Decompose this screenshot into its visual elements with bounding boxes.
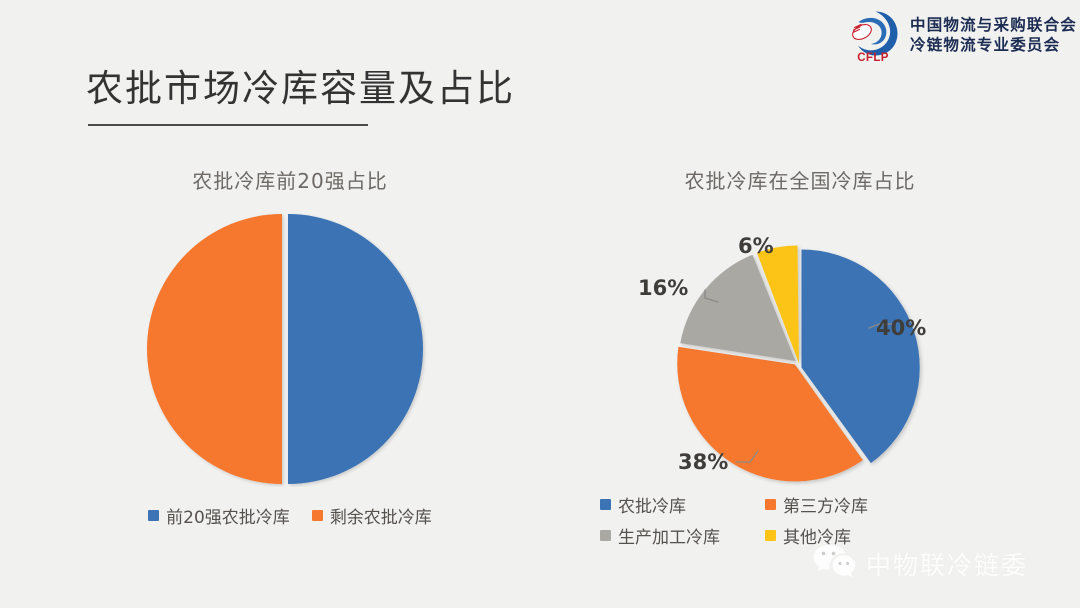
pie-value-label-40: 40%	[876, 316, 926, 340]
legend-label: 剩余农批冷库	[330, 503, 432, 528]
pie-value-label-6: 6%	[738, 234, 774, 258]
left-pie-slice-orange	[147, 214, 282, 484]
title-underline-divider	[88, 124, 368, 126]
pie-value-label-16: 16%	[638, 276, 688, 300]
legend-item-processing-coldstore[interactable]: 生产加工冷库	[600, 523, 765, 548]
left-pie-chart	[60, 212, 520, 487]
right-chart-legend: 农批冷库 第三方冷库 生产加工冷库 其他冷库	[600, 492, 930, 548]
pie-value-label-38: 38%	[678, 450, 728, 474]
legend-swatch-gray	[600, 530, 611, 541]
legend-item-market-coldstore[interactable]: 农批冷库	[600, 492, 765, 517]
wechat-icon	[812, 543, 856, 584]
left-chart-title: 农批冷库前20强占比	[60, 165, 520, 194]
legend-item-thirdparty-coldstore[interactable]: 第三方冷库	[765, 492, 930, 517]
page-title: 农批市场冷库容量及占比	[86, 58, 515, 112]
legend-swatch-orange	[312, 510, 323, 521]
left-chart-legend: 前20强农批冷库 剩余农批冷库	[60, 503, 520, 528]
slide-canvas: CFLP 中国物流与采购联合会 冷链物流专业委员会 农批市场冷库容量及占比 农批…	[0, 0, 1080, 608]
right-chart-panel: 农批冷库在全国冷库占比	[570, 165, 1030, 548]
left-chart-panel: 农批冷库前20强占比 前20强农批冷库 剩余农批冷	[60, 165, 520, 528]
watermark: 中物联冷链委	[812, 543, 1028, 584]
legend-swatch-blue	[148, 510, 159, 521]
cflp-logo-icon: CFLP	[845, 8, 901, 64]
watermark-label: 中物联冷链委	[866, 546, 1028, 582]
legend-swatch-blue	[600, 499, 611, 510]
legend-label: 生产加工冷库	[618, 523, 720, 548]
legend-label: 前20强农批冷库	[166, 503, 290, 528]
legend-label: 第三方冷库	[783, 492, 868, 517]
legend-item-top20-market-coldstore[interactable]: 前20强农批冷库	[148, 503, 290, 528]
legend-item-remaining-market-coldstore[interactable]: 剩余农批冷库	[312, 503, 432, 528]
svg-text:CFLP: CFLP	[857, 52, 889, 64]
right-chart-title: 农批冷库在全国冷库占比	[570, 165, 1030, 194]
left-pie-slice-blue	[288, 214, 423, 484]
brand-line-2: 冷链物流专业委员会	[910, 36, 1077, 56]
legend-label: 农批冷库	[618, 492, 686, 517]
brand-logo: CFLP 中国物流与采购联合会 冷链物流专业委员会	[845, 8, 1077, 64]
brand-line-1: 中国物流与采购联合会	[910, 16, 1077, 36]
brand-logo-text: 中国物流与采购联合会 冷链物流专业委员会	[910, 16, 1077, 56]
legend-swatch-yellow	[765, 530, 776, 541]
legend-swatch-orange	[765, 499, 776, 510]
right-pie-chart: 40% 38% 16% 6%	[570, 206, 1030, 486]
